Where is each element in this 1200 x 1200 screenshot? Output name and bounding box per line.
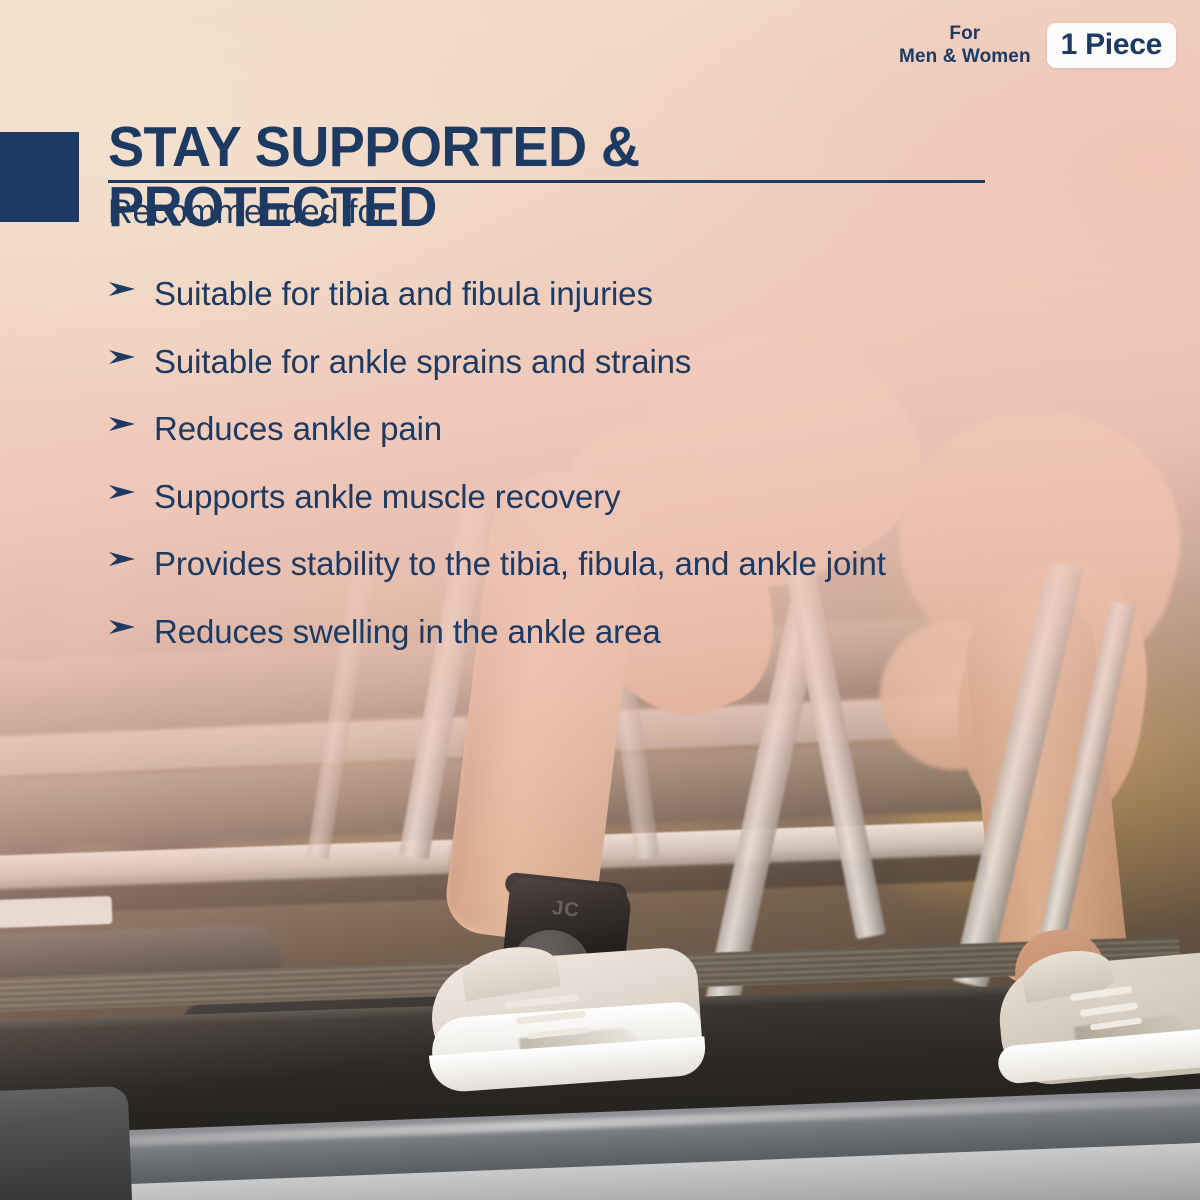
content-layer: For Men & Women 1 Piece STAY SUPPORTED &…	[0, 0, 1200, 1200]
audience-label-line2: Men & Women	[899, 45, 1031, 68]
audience-label: For Men & Women	[899, 22, 1031, 68]
benefit-item: Suitable for ankle sprains and strains	[108, 340, 1128, 384]
navy-accent-square	[0, 132, 79, 222]
arrow-right-icon	[108, 414, 140, 434]
arrow-right-icon	[108, 347, 140, 367]
benefit-item: Supports ankle muscle recovery	[108, 475, 1128, 519]
arrow-right-icon	[108, 617, 140, 637]
benefits-list: Suitable for tibia and fibula injuriesSu…	[108, 272, 1128, 677]
title-divider	[108, 180, 985, 183]
arrow-right-icon	[108, 279, 140, 299]
header-badge-group: For Men & Women 1 Piece	[899, 22, 1176, 68]
benefit-item: Reduces ankle pain	[108, 407, 1128, 451]
benefit-text: Reduces ankle pain	[154, 407, 442, 451]
benefit-text: Provides stability to the tibia, fibula,…	[154, 542, 886, 586]
benefit-text: Reduces swelling in the ankle area	[154, 610, 661, 654]
subtitle: Recommended for:	[108, 193, 397, 232]
benefit-item: Provides stability to the tibia, fibula,…	[108, 542, 1128, 586]
quantity-badge: 1 Piece	[1047, 23, 1176, 68]
arrow-right-icon	[108, 482, 140, 502]
product-infographic: JC For Men & Women	[0, 0, 1200, 1200]
benefit-item: Suitable for tibia and fibula injuries	[108, 272, 1128, 316]
benefit-text: Suitable for tibia and fibula injuries	[154, 272, 653, 316]
benefit-text: Suitable for ankle sprains and strains	[154, 340, 691, 384]
benefit-text: Supports ankle muscle recovery	[154, 475, 621, 519]
benefit-item: Reduces swelling in the ankle area	[108, 610, 1128, 654]
arrow-right-icon	[108, 549, 140, 569]
audience-label-line1: For	[899, 22, 1031, 45]
